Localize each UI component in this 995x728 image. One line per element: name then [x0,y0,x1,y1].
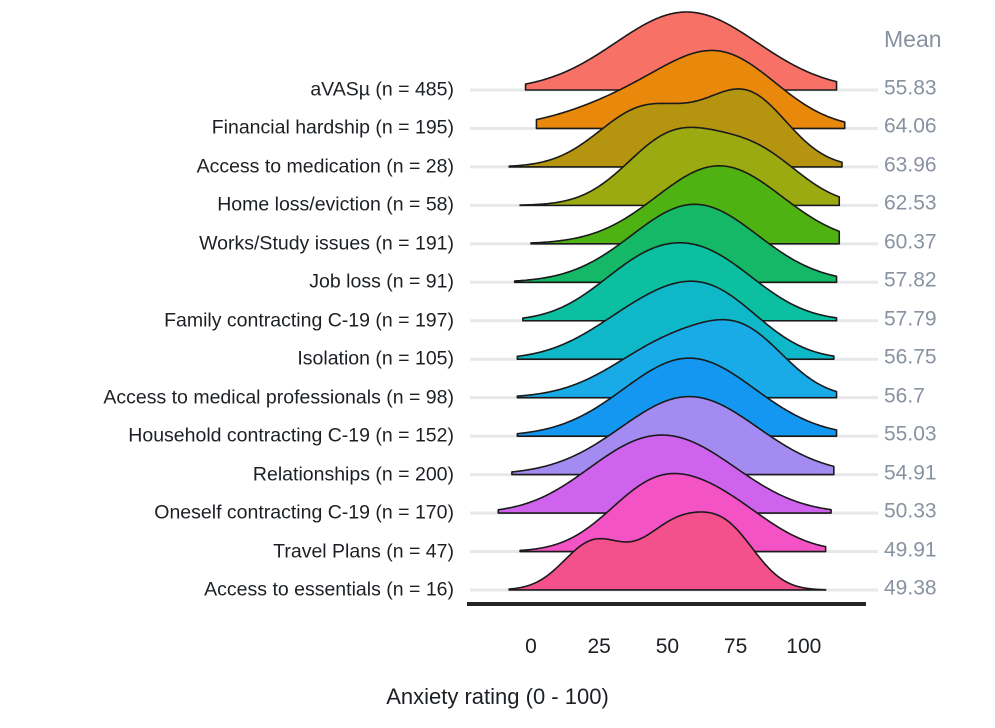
x-axis-tick-labels: 0255075100 [0,636,995,666]
mean-value: 62.53 [884,193,937,214]
category-label: Access to medical professionals (n = 98) [103,388,454,408]
category-label: Travel Plans (n = 47) [273,542,454,562]
x-tick-label: 75 [724,636,747,657]
x-tick-label: 100 [786,636,821,657]
category-label: Works/Study issues (n = 191) [199,234,454,254]
category-label: Isolation (n = 105) [297,349,454,369]
category-label: Job loss (n = 91) [309,273,454,293]
mean-value: 57.79 [884,308,937,329]
category-label: Family contracting C-19 (n = 197) [164,311,454,331]
category-label: aVASµ (n = 485) [310,80,454,100]
x-axis-title: Anxiety rating (0 - 100) [0,686,995,708]
mean-value: 60.37 [884,231,937,252]
mean-column: Mean 55.8364.0663.9662.5360.3757.8257.79… [880,0,995,728]
category-axis-labels: aVASµ (n = 485)Financial hardship (n = 1… [0,0,462,728]
mean-value: 63.96 [884,154,937,175]
mean-value: 64.06 [884,116,937,137]
mean-value: 55.03 [884,424,937,445]
mean-value: 54.91 [884,462,937,483]
category-label: Financial hardship (n = 195) [212,119,454,139]
mean-value: 57.82 [884,270,937,291]
x-tick-label: 25 [588,636,611,657]
category-label: Access to medication (n = 28) [197,157,454,177]
category-label: Relationships (n = 200) [253,465,454,485]
ridgeline-chart-figure: aVASµ (n = 485)Financial hardship (n = 1… [0,0,995,728]
mean-value: 55.83 [884,78,937,99]
mean-column-header: Mean [884,28,942,51]
mean-value: 49.38 [884,577,937,598]
category-label: Access to essentials (n = 16) [204,580,454,600]
mean-value: 50.33 [884,501,937,522]
mean-value: 56.7 [884,385,925,406]
mean-value: 56.75 [884,347,937,368]
category-label: Household contracting C-19 (n = 152) [128,426,454,446]
category-label: Oneself contracting C-19 (n = 170) [154,503,454,523]
mean-value: 49.91 [884,539,937,560]
x-tick-label: 50 [656,636,679,657]
category-label: Home loss/eviction (n = 58) [217,196,454,216]
x-tick-label: 0 [525,636,537,657]
